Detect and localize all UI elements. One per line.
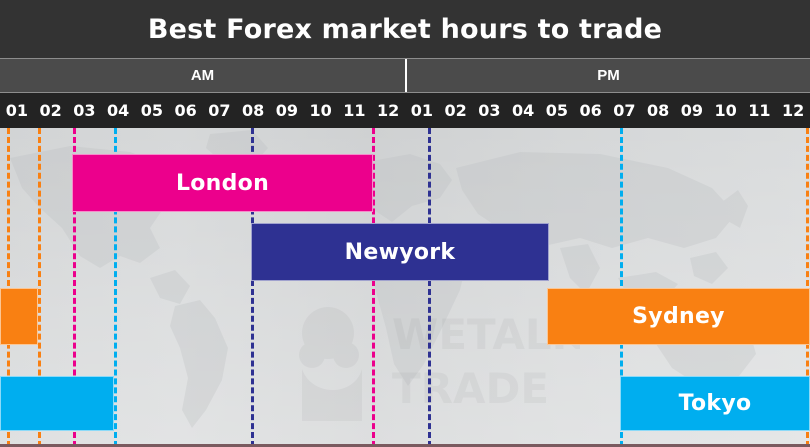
meridiem-pm: PM	[405, 59, 810, 92]
hour-tick-17: 06	[574, 93, 608, 128]
page-title: Best Forex market hours to trade	[148, 14, 662, 45]
session-bar-london[interactable]: London	[72, 154, 373, 212]
session-bar-label-newyork: Newyork	[252, 240, 548, 265]
hour-tick-7: 08	[236, 93, 270, 128]
hour-tick-1: 02	[34, 93, 68, 128]
hour-tick-4: 05	[135, 93, 169, 128]
hour-tick-0: 01	[0, 93, 34, 128]
hour-tick-18: 07	[608, 93, 642, 128]
session-bar-sydney[interactable]: Sydney	[547, 288, 810, 345]
hour-tick-22: 11	[743, 93, 777, 128]
hour-tick-3: 04	[101, 93, 135, 128]
session-bar-label-tokyo: Tokyo	[621, 391, 809, 416]
hour-tick-11: 12	[371, 93, 405, 128]
chart-body: WETALK TRADE LondonNewyorkSydneyTokyo 海马…	[0, 128, 810, 447]
hour-tick-9: 10	[304, 93, 338, 128]
session-bar-label-london: London	[73, 171, 372, 196]
session-bar-newyork[interactable]: Newyork	[251, 223, 549, 281]
svg-text:TRADE: TRADE	[392, 364, 549, 413]
title-bar: Best Forex market hours to trade	[0, 0, 810, 58]
hour-tick-20: 09	[675, 93, 709, 128]
hour-tick-14: 03	[473, 93, 507, 128]
hour-tick-13: 02	[439, 93, 473, 128]
hour-tick-16: 05	[540, 93, 574, 128]
hour-tick-15: 04	[506, 93, 540, 128]
session-bar-label-sydney: Sydney	[548, 304, 809, 329]
hour-tick-21: 10	[709, 93, 743, 128]
marker-line-6	[428, 128, 431, 447]
hour-tick-6: 07	[203, 93, 237, 128]
meridiem-am: AM	[0, 59, 405, 92]
forex-hours-infographic: Best Forex market hours to trade AM PM 0…	[0, 0, 810, 447]
wetalk-trade-watermark: WETALK TRADE	[250, 293, 580, 433]
session-bar-tokyoleft[interactable]	[0, 376, 114, 431]
hour-tick-23: 12	[776, 93, 810, 128]
meridiem-row: AM PM	[0, 58, 810, 93]
hour-tick-8: 09	[270, 93, 304, 128]
hour-tick-19: 08	[641, 93, 675, 128]
hour-axis: 0102030405060708091011120102030405060708…	[0, 93, 810, 128]
hour-tick-5: 06	[169, 93, 203, 128]
hour-tick-10: 11	[338, 93, 372, 128]
hour-tick-2: 03	[68, 93, 102, 128]
session-bar-sydneyleft[interactable]	[0, 288, 38, 345]
hour-tick-12: 01	[405, 93, 439, 128]
session-bar-tokyo[interactable]: Tokyo	[620, 376, 810, 431]
